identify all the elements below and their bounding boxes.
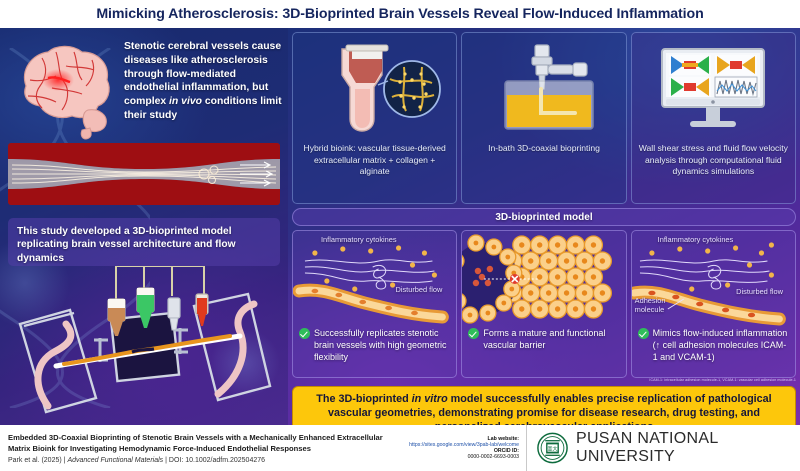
university-name: PUSAN NATIONAL UNIVERSITY (576, 430, 800, 466)
left-context-column: Stenotic cerebral vessels cause diseases… (0, 28, 288, 425)
label-disturbed-flow: Disturbed flow (396, 285, 443, 294)
result-bullet-2: Forms a mature and functional vascular b… (468, 327, 620, 351)
result-bullet-1: Successfully replicates stenotic brain v… (299, 327, 451, 363)
method-card-bioprinting: In-bath 3D-coaxial bioprinting (461, 32, 626, 204)
vascular-barrier-cells-icon (462, 231, 625, 327)
footer-sep-1: | (64, 457, 66, 464)
model-section-banner: 3D-bioprinted model (292, 208, 796, 226)
right-method-results-column: Hybrid bioink: vascular tissue-derived e… (288, 28, 800, 425)
footer-journal: Advanced Functional Materials (67, 457, 163, 464)
check-icon (299, 328, 310, 339)
footer-authors: Park et al. (2025) (8, 457, 62, 464)
study-summary-box: This study developed a 3D-bioprinted mod… (8, 218, 280, 266)
study-summary-text: This study developed a 3D-bioprinted mod… (17, 225, 271, 265)
poster-title-bar: Mimicking Atherosclerosis: 3D-Bioprinted… (0, 0, 800, 28)
cfd-monitor-icon (638, 39, 788, 143)
bioink-funnel-icon (300, 39, 450, 143)
result-card-stenotic-replication: Inflammatory cytokines Disturbed flow Su… (292, 230, 457, 378)
footer-university-block: 釜大 PUSAN NATIONAL UNIVERSITY (527, 430, 800, 466)
label-inflammatory-cytokines-3: Inflammatory cytokines (658, 235, 734, 244)
conclusion-text: The 3D-bioprinted in vitro model success… (303, 393, 785, 425)
check-icon (468, 328, 479, 339)
footer-sep-2: | (165, 457, 167, 464)
page-title: Mimicking Atherosclerosis: 3D-Bioprinted… (96, 6, 703, 22)
intro-text-italic: in vivo (169, 96, 202, 107)
abbreviation-footnote: ICAM-1: intracellular adhesion molecule-… (456, 378, 796, 382)
svg-text:釜大: 釜大 (547, 445, 557, 452)
footer-paper-title: Embedded 3D-Coaxial Bioprinting of Steno… (8, 432, 389, 454)
method-card-cfd: Wall shear stress and fluid flow velocit… (631, 32, 796, 204)
result-bullet-3: Mimics flow-induced inflammation (↑ cell… (638, 327, 790, 363)
model-banner-label: 3D-bioprinted model (495, 212, 592, 223)
footer-citation-block: Embedded 3D-Coaxial Bioprinting of Steno… (0, 432, 389, 464)
footer-citation-line: Park et al. (2025) | Advanced Functional… (8, 457, 389, 464)
poster-body: Stenotic cerebral vessels cause diseases… (0, 28, 800, 425)
intro-text: Stenotic cerebral vessels cause diseases… (124, 40, 282, 123)
footer-doi: DOI: 10.1002/adfm.202504276 (169, 457, 265, 464)
infographic-poster: Mimicking Atherosclerosis: 3D-Bioprinted… (0, 0, 800, 471)
poster-footer: Embedded 3D-Coaxial Bioprinting of Steno… (0, 425, 800, 471)
coaxial-bioprinter-icon (4, 266, 286, 421)
result-card-flow-induced-inflammation: Inflammatory cytokines Disturbed flow Ad… (631, 230, 796, 378)
orcid-id-value: 0000-0002-6693-0003 (389, 454, 519, 460)
result-bullet-text-2: Forms a mature and functional vascular b… (483, 327, 620, 351)
stenotic-vessel-cytokines-icon (293, 231, 456, 327)
check-icon (638, 328, 649, 339)
method-card-bioink: Hybrid bioink: vascular tissue-derived e… (292, 32, 457, 204)
conclusion-banner: The 3D-bioprinted in vitro model success… (292, 386, 796, 425)
result-bullet-text-3: Mimics flow-induced inflammation (↑ cell… (653, 327, 790, 363)
method-caption-cfd: Wall shear stress and fluid flow velocit… (632, 143, 795, 178)
methods-card-row: Hybrid bioink: vascular tissue-derived e… (292, 32, 796, 204)
coaxial-nozzle-bath-icon (469, 39, 619, 143)
brain-with-stenosis-icon (12, 40, 122, 140)
pusan-national-university-seal-icon: 釜大 (537, 431, 568, 465)
result-bullet-text-1: Successfully replicates stenotic brain v… (314, 327, 451, 363)
results-card-row: Inflammatory cytokines Disturbed flow Su… (292, 230, 796, 378)
conclusion-pre: The 3D-bioprinted (316, 393, 411, 405)
method-caption-bioink: Hybrid bioink: vascular tissue-derived e… (293, 143, 456, 178)
label-adhesion-molecule: Adhesion molecule (635, 297, 675, 314)
conclusion-italic: in vitro (412, 393, 448, 405)
result-card-vascular-barrier: Forms a mature and functional vascular b… (461, 230, 626, 378)
label-inflammatory-cytokines: Inflammatory cytokines (321, 235, 397, 244)
label-disturbed-flow-3: Disturbed flow (736, 287, 783, 296)
stenotic-vessel-flow-icon (8, 143, 280, 205)
method-caption-bioprinting: In-bath 3D-coaxial bioprinting (482, 143, 606, 155)
footer-links-block: Lab website: https://sites.google.com/vi… (389, 425, 527, 471)
